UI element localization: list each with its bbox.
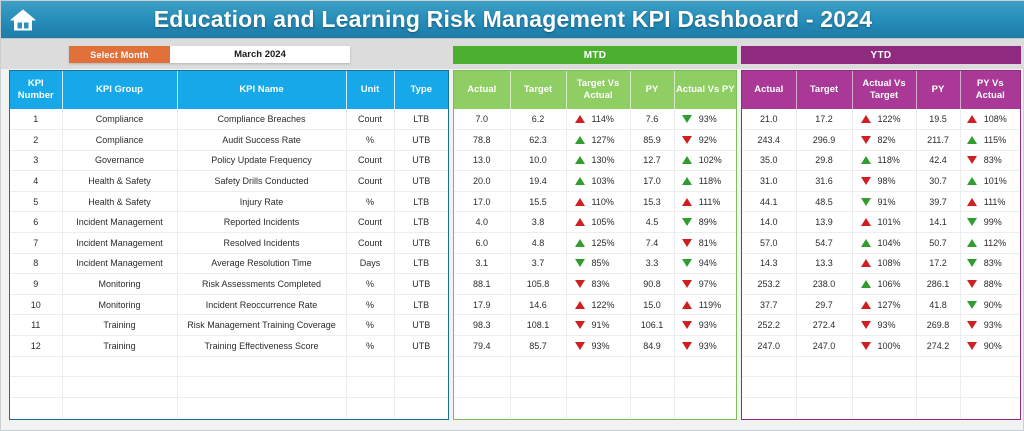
kpi-name: Risk Management Training Coverage bbox=[177, 315, 346, 336]
percent-value: 125% bbox=[592, 238, 622, 248]
empty-cell bbox=[566, 356, 630, 377]
percent-value: 127% bbox=[592, 135, 622, 145]
mtd-target-vs-actual: 114% bbox=[566, 109, 630, 130]
empty-cell bbox=[454, 356, 510, 377]
empty-cell bbox=[62, 356, 177, 377]
arrow-down-red-icon bbox=[682, 342, 692, 350]
home-button[interactable] bbox=[1, 1, 45, 39]
arrow-up-red-icon bbox=[575, 115, 585, 123]
empty-row bbox=[742, 397, 1020, 418]
percent-value: 83% bbox=[984, 258, 1014, 268]
table-row[interactable]: 11TrainingRisk Management Training Cover… bbox=[10, 315, 448, 336]
arrow-up-red-icon bbox=[861, 115, 871, 123]
mtd-actual-vs-py: 93% bbox=[674, 109, 736, 130]
percent-value: 100% bbox=[878, 341, 908, 351]
percent-value: 122% bbox=[592, 300, 622, 310]
mtd-py: 90.8 bbox=[630, 274, 674, 295]
arrow-up-red-icon bbox=[861, 259, 871, 267]
ytd-py: 274.2 bbox=[916, 336, 960, 357]
kpi-info-col-kpi-number: KPI Number bbox=[10, 71, 62, 109]
mtd-header-row: ActualTargetTarget Vs ActualPYActual Vs … bbox=[454, 71, 736, 109]
kpi-info-col-unit: Unit bbox=[346, 71, 394, 109]
ytd-py: 19.5 bbox=[916, 109, 960, 130]
empty-row bbox=[10, 397, 448, 418]
kpi-name: Audit Success Rate bbox=[177, 130, 346, 151]
percent-value: 98% bbox=[878, 176, 908, 186]
ytd-col-py: PY bbox=[916, 71, 960, 109]
percent-value: 97% bbox=[699, 279, 729, 289]
table-row[interactable]: 9MonitoringRisk Assessments Completed%UT… bbox=[10, 274, 448, 295]
arrow-up-green-icon bbox=[682, 156, 692, 164]
kpi-number: 1 bbox=[10, 109, 62, 130]
percent-value: 83% bbox=[984, 155, 1014, 165]
ytd-actual: 31.0 bbox=[742, 171, 796, 192]
percent-value: 93% bbox=[699, 341, 729, 351]
ytd-actual: 14.3 bbox=[742, 253, 796, 274]
empty-row bbox=[10, 377, 448, 398]
ytd-target: 29.8 bbox=[796, 150, 852, 171]
empty-cell bbox=[852, 377, 916, 398]
table-row[interactable]: 6.04.8125%7.481% bbox=[454, 233, 736, 254]
kpi-info-header-row: KPI NumberKPI GroupKPI NameUnitType bbox=[10, 71, 448, 109]
arrow-up-green-icon bbox=[861, 280, 871, 288]
kpi-name: Compliance Breaches bbox=[177, 109, 346, 130]
mtd-py: 84.9 bbox=[630, 336, 674, 357]
mtd-col-target: Target bbox=[510, 71, 566, 109]
ytd-body: 21.017.2122%19.5108%243.4296.982%211.711… bbox=[742, 109, 1020, 418]
mtd-target: 6.2 bbox=[510, 109, 566, 130]
ytd-header-row: ActualTargetActual Vs TargetPYPY Vs Actu… bbox=[742, 71, 1020, 109]
ytd-target: 54.7 bbox=[796, 233, 852, 254]
kpi-info-table: KPI NumberKPI GroupKPI NameUnitType 1Com… bbox=[10, 71, 448, 418]
percent-value: 93% bbox=[984, 320, 1014, 330]
empty-cell bbox=[566, 377, 630, 398]
arrow-down-red-icon bbox=[861, 342, 871, 350]
kpi-group: Compliance bbox=[62, 109, 177, 130]
ytd-actual: 247.0 bbox=[742, 336, 796, 357]
ytd-actual-vs-target: 108% bbox=[852, 253, 916, 274]
kpi-name: Training Effectiveness Score bbox=[177, 336, 346, 357]
arrow-down-red-icon bbox=[682, 321, 692, 329]
arrow-down-green-icon bbox=[682, 115, 692, 123]
arrow-up-red-icon bbox=[861, 218, 871, 226]
kpi-type: UTB bbox=[394, 150, 448, 171]
kpi-number: 5 bbox=[10, 191, 62, 212]
arrow-up-green-icon bbox=[575, 156, 585, 164]
empty-cell bbox=[62, 377, 177, 398]
ytd-col-actual: Actual bbox=[742, 71, 796, 109]
table-row[interactable]: 10MonitoringIncident Reoccurrence Rate%L… bbox=[10, 294, 448, 315]
empty-cell bbox=[510, 397, 566, 418]
kpi-group: Training bbox=[62, 336, 177, 357]
mtd-target: 62.3 bbox=[510, 130, 566, 151]
table-row[interactable]: 7Incident ManagementResolved IncidentsCo… bbox=[10, 233, 448, 254]
kpi-group: Monitoring bbox=[62, 274, 177, 295]
percent-value: 99% bbox=[984, 217, 1014, 227]
ytd-py: 41.8 bbox=[916, 294, 960, 315]
table-row[interactable]: 57.054.7104%50.7112% bbox=[742, 233, 1020, 254]
kpi-type: LTB bbox=[394, 191, 448, 212]
table-row[interactable]: 4.03.8105%4.589% bbox=[454, 212, 736, 233]
table-row[interactable]: 7.06.2114%7.693% bbox=[454, 109, 736, 130]
mtd-actual-vs-py: 97% bbox=[674, 274, 736, 295]
empty-cell bbox=[510, 377, 566, 398]
table-row[interactable]: 20.019.4103%17.0118% bbox=[454, 171, 736, 192]
percent-value: 91% bbox=[592, 320, 622, 330]
kpi-name: Policy Update Frequency bbox=[177, 150, 346, 171]
table-row[interactable]: 252.2272.493%269.893% bbox=[742, 315, 1020, 336]
mtd-target: 85.7 bbox=[510, 336, 566, 357]
kpi-name: Safety Drills Conducted bbox=[177, 171, 346, 192]
mtd-actual: 17.0 bbox=[454, 191, 510, 212]
ytd-py-vs-actual: 99% bbox=[960, 212, 1020, 233]
mtd-actual: 78.8 bbox=[454, 130, 510, 151]
percent-value: 83% bbox=[592, 279, 622, 289]
ytd-py: 211.7 bbox=[916, 130, 960, 151]
kpi-number: 2 bbox=[10, 130, 62, 151]
table-row[interactable]: 14.013.9101%14.199% bbox=[742, 212, 1020, 233]
table-row[interactable]: 14.313.3108%17.283% bbox=[742, 253, 1020, 274]
table-row[interactable]: 6Incident ManagementReported IncidentsCo… bbox=[10, 212, 448, 233]
empty-cell bbox=[177, 397, 346, 418]
arrow-down-red-icon bbox=[967, 321, 977, 329]
percent-value: 93% bbox=[699, 114, 729, 124]
table-row[interactable]: 35.029.8118%42.483% bbox=[742, 150, 1020, 171]
kpi-number: 4 bbox=[10, 171, 62, 192]
percent-value: 119% bbox=[699, 300, 729, 310]
table-row[interactable]: 1ComplianceCompliance BreachesCountLTB bbox=[10, 109, 448, 130]
kpi-number: 8 bbox=[10, 253, 62, 274]
table-row[interactable]: 243.4296.982%211.7115% bbox=[742, 130, 1020, 151]
table-row[interactable]: 44.148.591%39.7111% bbox=[742, 191, 1020, 212]
arrow-down-green-icon bbox=[575, 259, 585, 267]
empty-cell bbox=[960, 377, 1020, 398]
percent-value: 103% bbox=[592, 176, 622, 186]
table-row[interactable]: 98.3108.191%106.193% bbox=[454, 315, 736, 336]
ytd-actual: 35.0 bbox=[742, 150, 796, 171]
ytd-actual-vs-target: 106% bbox=[852, 274, 916, 295]
kpi-unit: % bbox=[346, 191, 394, 212]
empty-cell bbox=[177, 356, 346, 377]
ytd-target: 29.7 bbox=[796, 294, 852, 315]
mtd-actual-vs-py: 93% bbox=[674, 336, 736, 357]
arrow-up-green-icon bbox=[861, 239, 871, 247]
month-selector[interactable]: Select Month March 2024 bbox=[69, 46, 350, 63]
mtd-actual: 20.0 bbox=[454, 171, 510, 192]
mtd-actual: 17.9 bbox=[454, 294, 510, 315]
mtd-target-vs-actual: 83% bbox=[566, 274, 630, 295]
ytd-target: 31.6 bbox=[796, 171, 852, 192]
arrow-up-green-icon bbox=[575, 177, 585, 185]
kpi-type: LTB bbox=[394, 253, 448, 274]
percent-value: 118% bbox=[878, 155, 908, 165]
percent-value: 130% bbox=[592, 155, 622, 165]
mtd-target-vs-actual: 91% bbox=[566, 315, 630, 336]
percent-value: 93% bbox=[592, 341, 622, 351]
ytd-py-vs-actual: 111% bbox=[960, 191, 1020, 212]
empty-cell bbox=[630, 356, 674, 377]
kpi-name: Risk Assessments Completed bbox=[177, 274, 346, 295]
kpi-group: Monitoring bbox=[62, 294, 177, 315]
mtd-actual-vs-py: 111% bbox=[674, 191, 736, 212]
table-row[interactable]: 13.010.0130%12.7102% bbox=[454, 150, 736, 171]
ytd-py-vs-actual: 90% bbox=[960, 336, 1020, 357]
ytd-py-vs-actual: 93% bbox=[960, 315, 1020, 336]
kpi-info-panel: KPI NumberKPI GroupKPI NameUnitType 1Com… bbox=[9, 70, 449, 420]
kpi-number: 11 bbox=[10, 315, 62, 336]
arrow-down-red-icon bbox=[967, 156, 977, 164]
mtd-py: 17.0 bbox=[630, 171, 674, 192]
empty-cell bbox=[742, 356, 796, 377]
percent-value: 108% bbox=[984, 114, 1014, 124]
kpi-name: Injury Rate bbox=[177, 191, 346, 212]
ytd-actual: 37.7 bbox=[742, 294, 796, 315]
empty-row bbox=[454, 377, 736, 398]
arrow-up-green-icon bbox=[967, 136, 977, 144]
mtd-col-py: PY bbox=[630, 71, 674, 109]
mtd-table: ActualTargetTarget Vs ActualPYActual Vs … bbox=[454, 71, 736, 418]
mtd-target-vs-actual: 103% bbox=[566, 171, 630, 192]
table-row[interactable]: 79.485.793%84.993% bbox=[454, 336, 736, 357]
percent-value: 111% bbox=[699, 197, 729, 207]
table-row[interactable]: 5Health & SafetyInjury Rate%LTB bbox=[10, 191, 448, 212]
ytd-py: 286.1 bbox=[916, 274, 960, 295]
kpi-number: 9 bbox=[10, 274, 62, 295]
mtd-actual-vs-py: 93% bbox=[674, 315, 736, 336]
table-row[interactable]: 8Incident ManagementAverage Resolution T… bbox=[10, 253, 448, 274]
kpi-group: Training bbox=[62, 315, 177, 336]
kpi-number: 6 bbox=[10, 212, 62, 233]
empty-cell bbox=[916, 377, 960, 398]
percent-value: 91% bbox=[878, 197, 908, 207]
table-row[interactable]: 31.031.698%30.7101% bbox=[742, 171, 1020, 192]
mtd-actual-vs-py: 81% bbox=[674, 233, 736, 254]
mtd-actual: 6.0 bbox=[454, 233, 510, 254]
arrow-up-red-icon bbox=[575, 198, 585, 206]
empty-cell bbox=[630, 377, 674, 398]
kpi-unit: Count bbox=[346, 109, 394, 130]
empty-cell bbox=[394, 356, 448, 377]
ytd-actual: 243.4 bbox=[742, 130, 796, 151]
empty-cell bbox=[796, 377, 852, 398]
ytd-py: 269.8 bbox=[916, 315, 960, 336]
percent-value: 106% bbox=[878, 279, 908, 289]
mtd-target: 10.0 bbox=[510, 150, 566, 171]
arrow-up-green-icon bbox=[575, 239, 585, 247]
mtd-py: 7.6 bbox=[630, 109, 674, 130]
empty-cell bbox=[916, 397, 960, 418]
empty-cell bbox=[916, 356, 960, 377]
empty-cell bbox=[346, 377, 394, 398]
arrow-down-red-icon bbox=[967, 342, 977, 350]
empty-cell bbox=[454, 377, 510, 398]
mtd-actual-vs-py: 94% bbox=[674, 253, 736, 274]
table-row[interactable]: 2ComplianceAudit Success Rate%UTB bbox=[10, 130, 448, 151]
mtd-actual: 7.0 bbox=[454, 109, 510, 130]
title-bar: Education and Learning Risk Management K… bbox=[1, 1, 1024, 39]
ytd-py-vs-actual: 88% bbox=[960, 274, 1020, 295]
kpi-unit: Count bbox=[346, 171, 394, 192]
kpi-unit: Count bbox=[346, 233, 394, 254]
percent-value: 101% bbox=[878, 217, 908, 227]
mtd-actual-vs-py: 102% bbox=[674, 150, 736, 171]
empty-cell bbox=[674, 356, 736, 377]
empty-row bbox=[742, 377, 1020, 398]
table-row[interactable]: 37.729.7127%41.890% bbox=[742, 294, 1020, 315]
kpi-info-body: 1ComplianceCompliance BreachesCountLTB2C… bbox=[10, 109, 448, 418]
mtd-target: 14.6 bbox=[510, 294, 566, 315]
percent-value: 81% bbox=[699, 238, 729, 248]
percent-value: 127% bbox=[878, 300, 908, 310]
arrow-down-red-icon bbox=[967, 280, 977, 288]
ytd-table: ActualTargetActual Vs TargetPYPY Vs Actu… bbox=[742, 71, 1020, 418]
table-row[interactable]: 88.1105.883%90.897% bbox=[454, 274, 736, 295]
kpi-number: 3 bbox=[10, 150, 62, 171]
empty-cell bbox=[742, 397, 796, 418]
arrow-down-red-icon bbox=[861, 321, 871, 329]
select-month-label: Select Month bbox=[69, 46, 170, 63]
percent-value: 115% bbox=[984, 135, 1014, 145]
mtd-col-actual: Actual bbox=[454, 71, 510, 109]
kpi-type: UTB bbox=[394, 336, 448, 357]
percent-value: 111% bbox=[984, 197, 1014, 207]
kpi-type: LTB bbox=[394, 109, 448, 130]
table-row[interactable]: 247.0247.0100%274.290% bbox=[742, 336, 1020, 357]
empty-cell bbox=[674, 377, 736, 398]
kpi-group: Incident Management bbox=[62, 212, 177, 233]
table-row[interactable]: 3GovernancePolicy Update FrequencyCountU… bbox=[10, 150, 448, 171]
kpi-unit: Count bbox=[346, 150, 394, 171]
kpi-name: Incident Reoccurrence Rate bbox=[177, 294, 346, 315]
ytd-py-vs-actual: 90% bbox=[960, 294, 1020, 315]
kpi-name: Average Resolution Time bbox=[177, 253, 346, 274]
mtd-target-vs-actual: 110% bbox=[566, 191, 630, 212]
percent-value: 85% bbox=[592, 258, 622, 268]
percent-value: 90% bbox=[984, 341, 1014, 351]
table-row[interactable]: 3.13.785%3.394% bbox=[454, 253, 736, 274]
kpi-number: 12 bbox=[10, 336, 62, 357]
ytd-actual-vs-target: 98% bbox=[852, 171, 916, 192]
table-row[interactable]: 21.017.2122%19.5108% bbox=[742, 109, 1020, 130]
arrow-down-green-icon bbox=[967, 218, 977, 226]
mtd-actual-vs-py: 92% bbox=[674, 130, 736, 151]
kpi-group: Governance bbox=[62, 150, 177, 171]
table-row[interactable]: 253.2238.0106%286.188% bbox=[742, 274, 1020, 295]
kpi-unit: % bbox=[346, 130, 394, 151]
mtd-py: 85.9 bbox=[630, 130, 674, 151]
ytd-py: 30.7 bbox=[916, 171, 960, 192]
dashboard-title: Education and Learning Risk Management K… bbox=[45, 6, 1024, 33]
mtd-actual: 13.0 bbox=[454, 150, 510, 171]
empty-cell bbox=[10, 397, 62, 418]
mtd-py: 15.3 bbox=[630, 191, 674, 212]
ytd-col-target: Target bbox=[796, 71, 852, 109]
ytd-banner: YTD bbox=[741, 46, 1021, 64]
arrow-down-red-icon bbox=[682, 280, 692, 288]
arrow-up-green-icon bbox=[575, 136, 585, 144]
ytd-actual: 253.2 bbox=[742, 274, 796, 295]
percent-value: 89% bbox=[699, 217, 729, 227]
empty-cell bbox=[346, 356, 394, 377]
kpi-group: Compliance bbox=[62, 130, 177, 151]
select-month-value[interactable]: March 2024 bbox=[170, 46, 350, 63]
arrow-down-green-icon bbox=[682, 259, 692, 267]
mtd-target-vs-actual: 122% bbox=[566, 294, 630, 315]
percent-value: 118% bbox=[699, 176, 729, 186]
ytd-py-vs-actual: 108% bbox=[960, 109, 1020, 130]
table-row[interactable]: 78.862.3127%85.992% bbox=[454, 130, 736, 151]
kpi-info-col-kpi-group: KPI Group bbox=[62, 71, 177, 109]
kpi-type: UTB bbox=[394, 274, 448, 295]
arrow-down-red-icon bbox=[861, 136, 871, 144]
ytd-target: 17.2 bbox=[796, 109, 852, 130]
arrow-down-green-icon bbox=[967, 259, 977, 267]
empty-cell bbox=[62, 397, 177, 418]
ytd-actual-vs-target: 101% bbox=[852, 212, 916, 233]
ytd-py-vs-actual: 101% bbox=[960, 171, 1020, 192]
mtd-actual-vs-py: 118% bbox=[674, 171, 736, 192]
empty-cell bbox=[454, 397, 510, 418]
arrow-up-red-icon bbox=[967, 115, 977, 123]
mtd-target: 19.4 bbox=[510, 171, 566, 192]
arrow-up-red-icon bbox=[682, 301, 692, 309]
mtd-actual-vs-py: 89% bbox=[674, 212, 736, 233]
table-row[interactable]: 4Health & SafetySafety Drills ConductedC… bbox=[10, 171, 448, 192]
kpi-type: UTB bbox=[394, 233, 448, 254]
percent-value: 102% bbox=[699, 155, 729, 165]
kpi-unit: % bbox=[346, 274, 394, 295]
arrow-down-green-icon bbox=[967, 301, 977, 309]
mtd-actual: 88.1 bbox=[454, 274, 510, 295]
arrow-up-green-icon bbox=[967, 177, 977, 185]
empty-cell bbox=[742, 377, 796, 398]
empty-cell bbox=[10, 356, 62, 377]
ytd-py-vs-actual: 83% bbox=[960, 253, 1020, 274]
mtd-target-vs-actual: 125% bbox=[566, 233, 630, 254]
ytd-actual-vs-target: 82% bbox=[852, 130, 916, 151]
arrow-up-green-icon bbox=[861, 156, 871, 164]
empty-cell bbox=[10, 377, 62, 398]
mtd-col-target-vs-actual: Target Vs Actual bbox=[566, 71, 630, 109]
kpi-type: LTB bbox=[394, 212, 448, 233]
dashboard-root: Education and Learning Risk Management K… bbox=[0, 0, 1024, 431]
percent-value: 93% bbox=[699, 320, 729, 330]
percent-value: 110% bbox=[592, 197, 622, 207]
kpi-number: 7 bbox=[10, 233, 62, 254]
kpi-info-col-kpi-name: KPI Name bbox=[177, 71, 346, 109]
ytd-col-py-vs-actual: PY Vs Actual bbox=[960, 71, 1020, 109]
table-row[interactable]: 12TrainingTraining Effectiveness Score%U… bbox=[10, 336, 448, 357]
empty-cell bbox=[346, 397, 394, 418]
ytd-actual-vs-target: 104% bbox=[852, 233, 916, 254]
arrow-down-red-icon bbox=[575, 321, 585, 329]
kpi-unit: % bbox=[346, 336, 394, 357]
mtd-banner: MTD bbox=[453, 46, 737, 64]
kpi-info-col-type: Type bbox=[394, 71, 448, 109]
arrow-down-red-icon bbox=[682, 239, 692, 247]
table-row[interactable]: 17.914.6122%15.0119% bbox=[454, 294, 736, 315]
table-row[interactable]: 17.015.5110%15.3111% bbox=[454, 191, 736, 212]
ytd-actual-vs-target: 100% bbox=[852, 336, 916, 357]
percent-value: 90% bbox=[984, 300, 1014, 310]
kpi-name: Resolved Incidents bbox=[177, 233, 346, 254]
kpi-group: Incident Management bbox=[62, 233, 177, 254]
kpi-group: Health & Safety bbox=[62, 171, 177, 192]
mtd-target-vs-actual: 93% bbox=[566, 336, 630, 357]
empty-cell bbox=[852, 397, 916, 418]
ytd-py: 17.2 bbox=[916, 253, 960, 274]
empty-row bbox=[10, 356, 448, 377]
